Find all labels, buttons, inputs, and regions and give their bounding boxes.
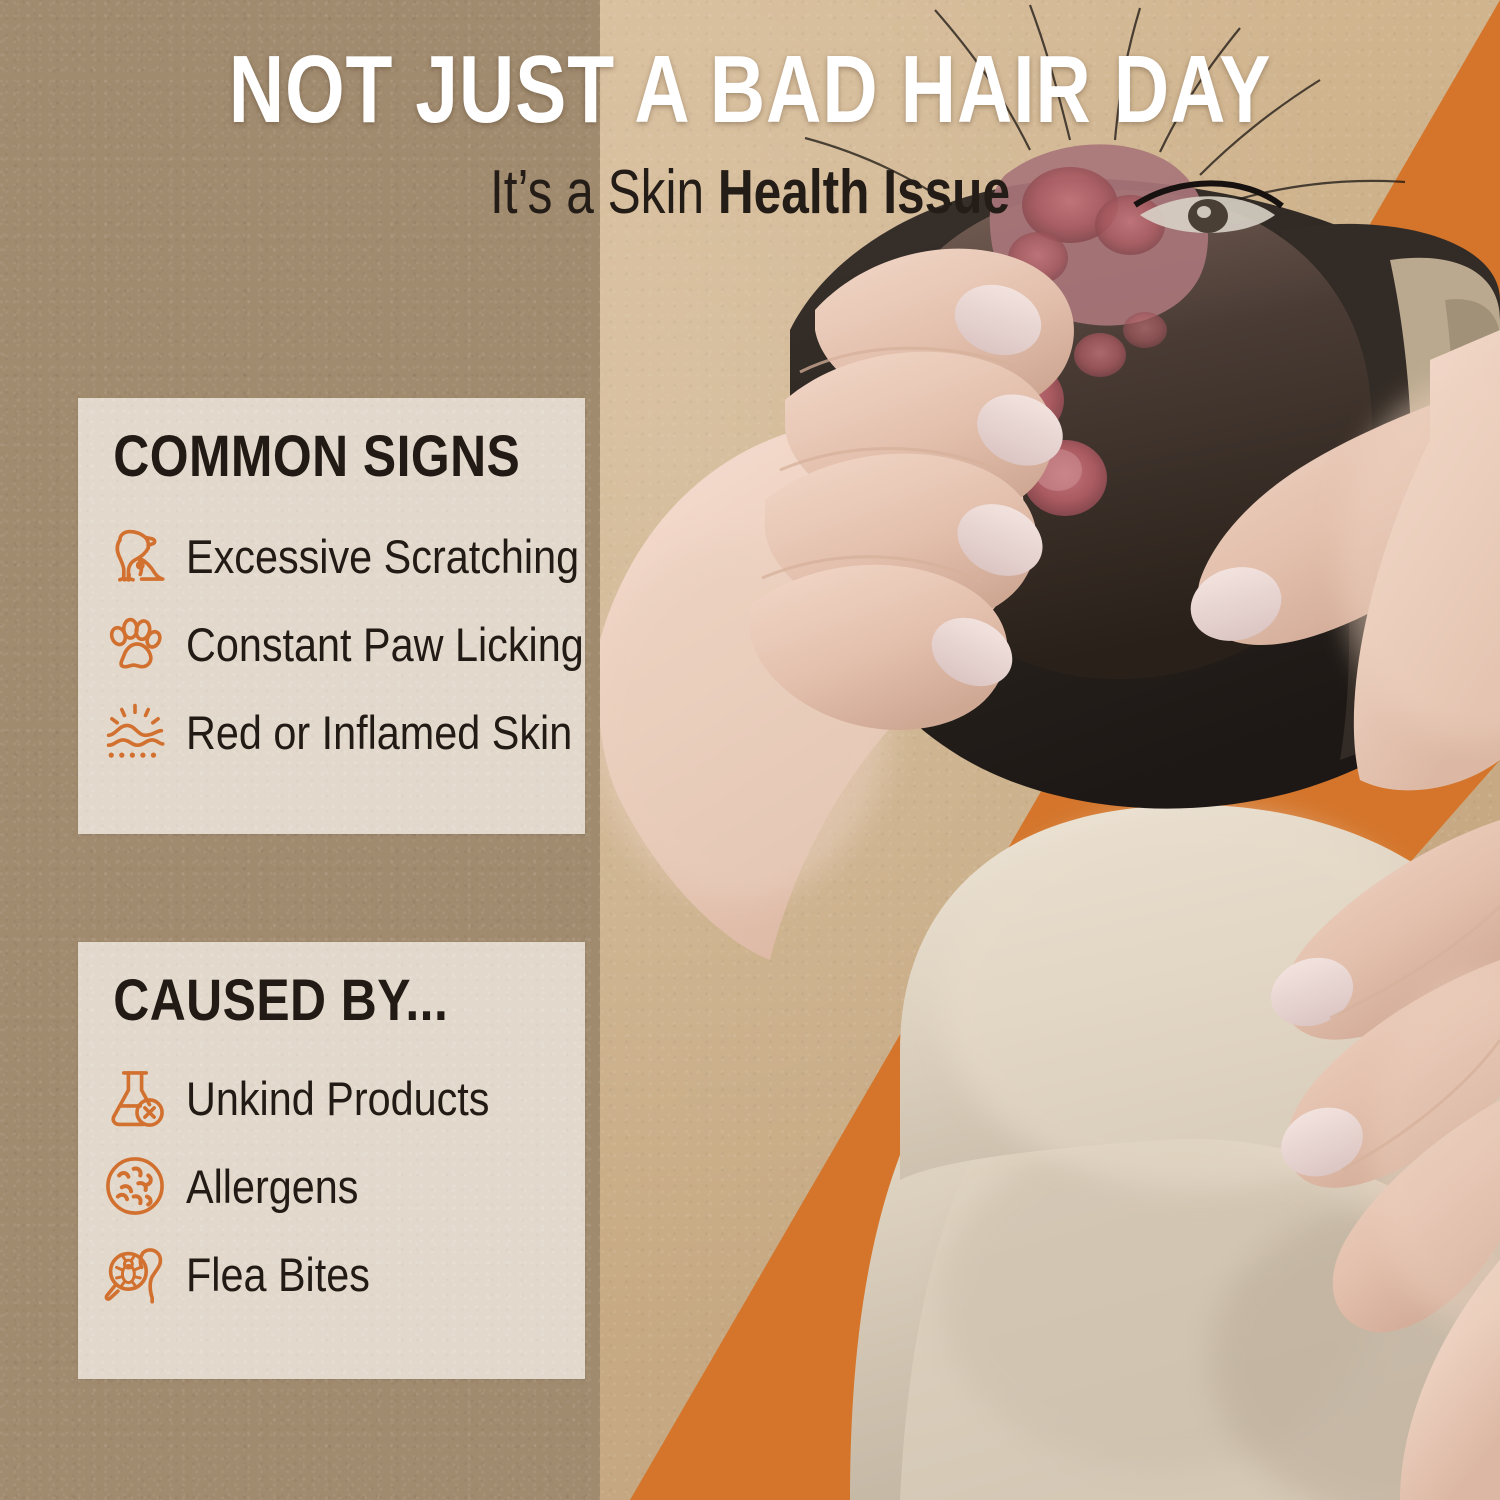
subtitle-light-part: It’s a Skin bbox=[490, 158, 718, 227]
caused-by-card: CAUSED BY... Unkind Pro bbox=[78, 942, 585, 1379]
list-item-label: Excessive Scratching bbox=[186, 533, 579, 580]
list-item: Constant Paw Licking bbox=[78, 600, 585, 688]
list-item: Excessive Scratching bbox=[78, 512, 585, 600]
common-signs-card: COMMON SIGNS bbox=[78, 398, 585, 834]
paw-print-icon bbox=[102, 611, 168, 677]
list-item-label: Unkind Products bbox=[186, 1075, 489, 1122]
list-item: Red or Inflamed Skin bbox=[78, 688, 585, 776]
scratching-dog-icon bbox=[102, 523, 168, 589]
list-item: Unkind Products bbox=[78, 1054, 585, 1142]
flea-magnifier-icon bbox=[102, 1241, 168, 1307]
flask-no-entry-icon bbox=[102, 1065, 168, 1131]
list-item-label: Constant Paw Licking bbox=[186, 621, 584, 668]
poster-root: NOT JUST A BAD HAIR DAY It’s a Skin Heal… bbox=[0, 0, 1500, 1500]
list-item-label: Red or Inflamed Skin bbox=[186, 709, 572, 756]
headline-block: NOT JUST A BAD HAIR DAY It’s a Skin Heal… bbox=[0, 42, 1500, 224]
list-item-label: Allergens bbox=[186, 1163, 358, 1210]
list-item: Allergens bbox=[78, 1142, 585, 1230]
list-item: Flea Bites bbox=[78, 1230, 585, 1318]
caused-by-card-title: CAUSED BY... bbox=[78, 942, 514, 1030]
page-subtitle: It’s a Skin Health Issue bbox=[150, 162, 1350, 224]
subtitle-bold-part: Health Issue bbox=[718, 158, 1010, 227]
allergen-bacteria-icon bbox=[102, 1153, 168, 1219]
common-signs-card-title: COMMON SIGNS bbox=[78, 398, 514, 486]
common-signs-list: Excessive Scratching Constant Paw Li bbox=[78, 512, 585, 776]
page-title: NOT JUST A BAD HAIR DAY bbox=[150, 42, 1350, 138]
inflamed-skin-icon bbox=[102, 699, 168, 765]
caused-by-list: Unkind Products bbox=[78, 1054, 585, 1318]
list-item-label: Flea Bites bbox=[186, 1251, 370, 1298]
